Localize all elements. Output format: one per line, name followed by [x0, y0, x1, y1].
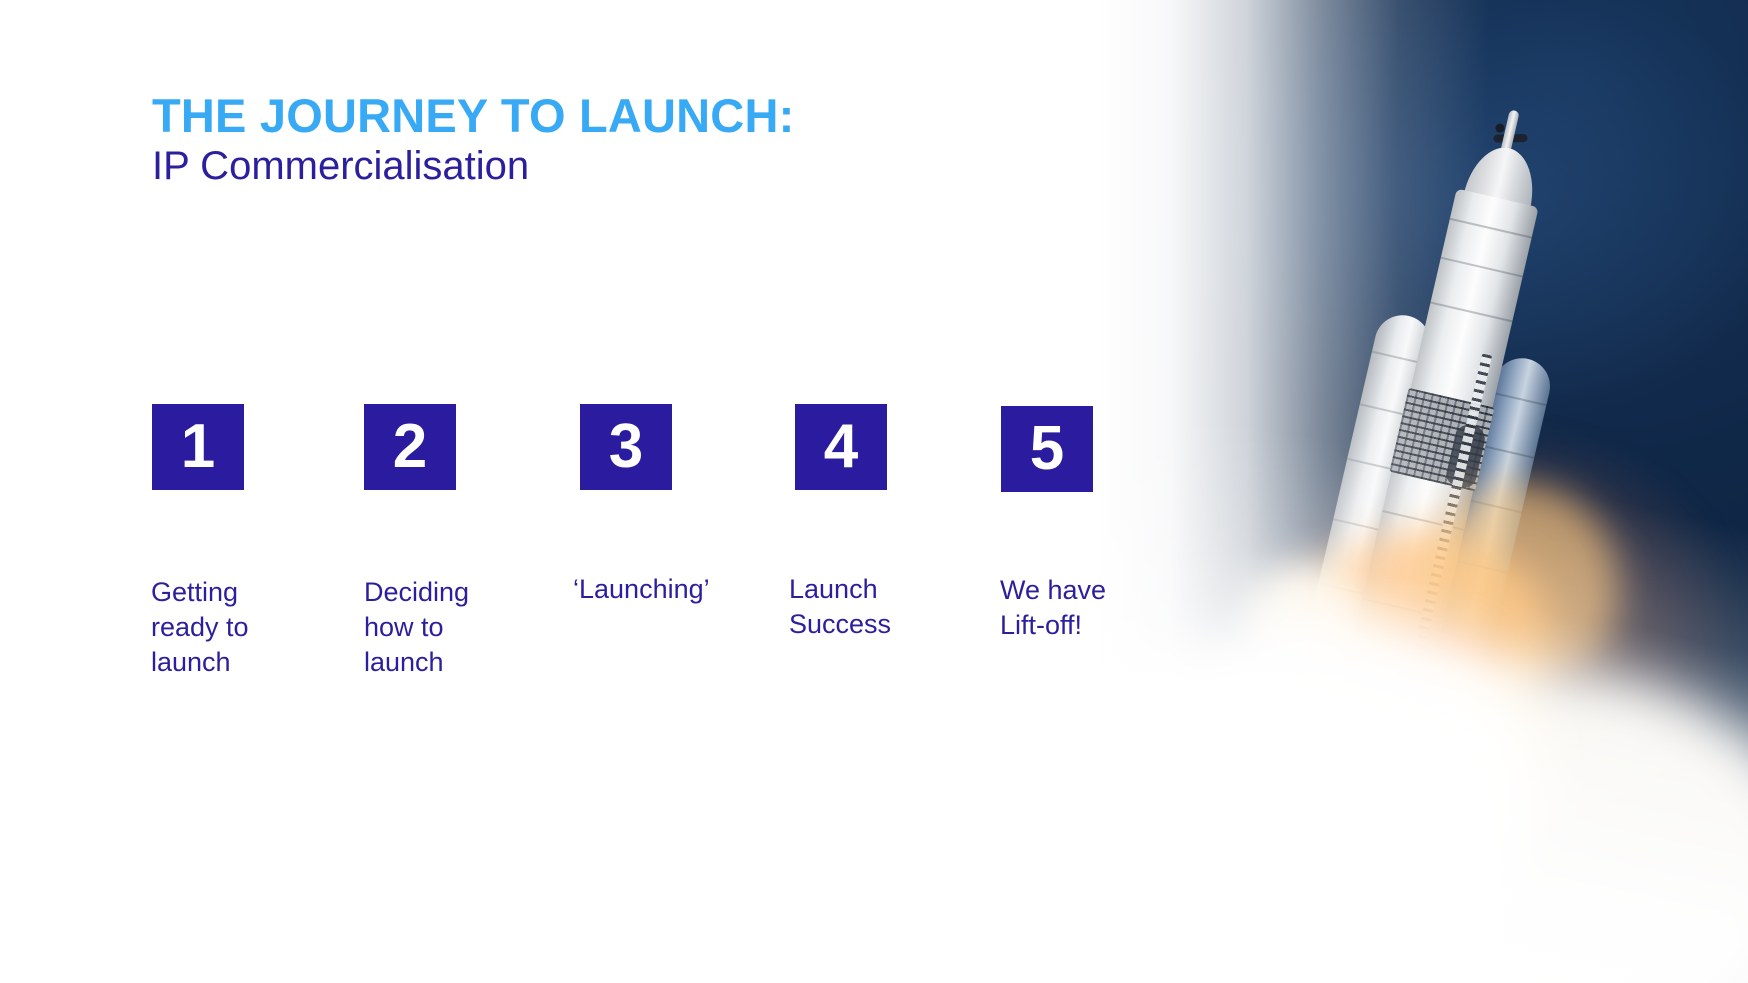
step-number: 3 — [609, 416, 643, 478]
step-label: Getting ready to launch — [151, 575, 321, 679]
step-number-box: 4 — [795, 404, 887, 490]
step-number: 4 — [824, 416, 858, 478]
journey-steps: 1 Getting ready to launch 2 Deciding how… — [0, 0, 1200, 983]
step-label: Deciding how to launch — [364, 575, 534, 679]
step-number-box: 1 — [152, 404, 244, 490]
step-number-box: 2 — [364, 404, 456, 490]
step-number-box: 5 — [1001, 406, 1093, 492]
step-number-box: 3 — [580, 404, 672, 490]
step-number: 2 — [393, 416, 427, 478]
step-number: 5 — [1030, 418, 1064, 480]
step-label: Launch Success — [789, 572, 979, 642]
step-label: We have Lift-off! — [1000, 573, 1200, 643]
slide-canvas: THE JOURNEY TO LAUNCH: IP Commercialisat… — [0, 0, 1748, 983]
step-label: ‘Launching’ — [573, 572, 783, 607]
step-number: 1 — [181, 416, 215, 478]
